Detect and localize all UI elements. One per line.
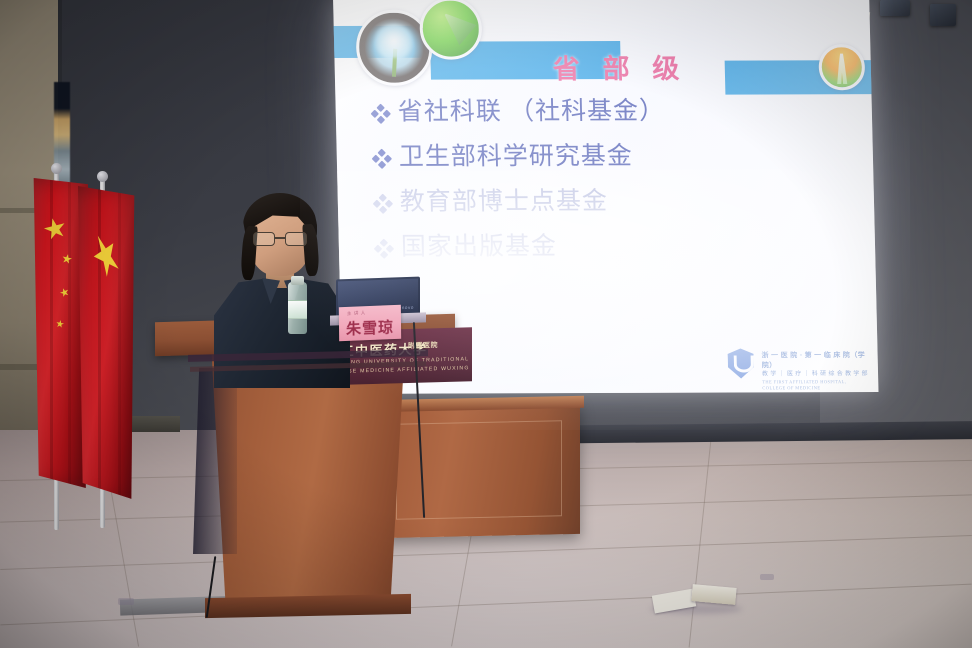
- footer-line-3: THE FIRST AFFILIATED HOSPITAL, COLLEGE O…: [762, 379, 870, 392]
- name-plate-name: 朱雪琼: [346, 316, 394, 339]
- presenter-torso: [214, 278, 350, 388]
- floor-mark: [118, 598, 134, 605]
- ceiling-fixture-icon: [880, 0, 910, 16]
- name-plate: 主 讲 人 朱雪琼: [339, 305, 401, 342]
- chinese-flag: [78, 186, 136, 502]
- diamond-bullet-icon: [373, 150, 392, 169]
- diamond-bullet-icon: [374, 195, 393, 214]
- slide-title: 省 部 级: [552, 47, 687, 86]
- bullet-label: 教育部博士点基金: [399, 185, 608, 219]
- diamond-bullet-icon: [372, 105, 391, 124]
- bottle-label: [288, 300, 307, 319]
- footer-line-1: 浙 一 医 院 · 第 一 临 床 院（学院）: [761, 350, 869, 371]
- footer-line-2: 教 学 ｜ 医 疗 ｜ 科 研 综 合 教 学 部: [762, 370, 870, 379]
- list-item: 省社科联 （社科基金）: [371, 94, 842, 129]
- bullet-label: 卫生部科学研究基金: [398, 140, 633, 174]
- hospital-shield-icon: [727, 348, 754, 378]
- flagpole-finial: [51, 163, 62, 174]
- bottle-cap: [291, 276, 304, 285]
- slide-corner-logo-icon: [818, 44, 865, 90]
- diamond-bullet-icon: [375, 240, 394, 259]
- bullet-label: 省社科联 （社科基金）: [397, 95, 665, 129]
- flagpole-finial: [97, 171, 108, 182]
- floor-mark: [760, 574, 774, 580]
- slide-bullet-list: 省社科联 （社科基金） 卫生部科学研究基金 教育部博士点基金 国家出版基金: [371, 94, 845, 276]
- ceiling-light-icon: [930, 4, 956, 26]
- presentation-scene-photo: 省 部 级 省社科联 （社科基金） 卫生部科学研究基金 教育部博士点基金 国家出…: [0, 0, 972, 648]
- bullet-label: 国家出版基金: [401, 230, 558, 264]
- list-item: 教育部博士点基金: [373, 184, 844, 219]
- list-item: 国家出版基金: [375, 229, 846, 264]
- eyeglasses-icon: [253, 232, 307, 247]
- name-plate-subtitle: 主 讲 人: [347, 310, 366, 317]
- podium-shadow-side: [193, 368, 237, 554]
- list-item: 卫生部科学研究基金: [372, 139, 843, 174]
- slide-footer-text: 浙 一 医 院 · 第 一 临 床 院（学院） 教 学 ｜ 医 疗 ｜ 科 研 …: [761, 350, 870, 392]
